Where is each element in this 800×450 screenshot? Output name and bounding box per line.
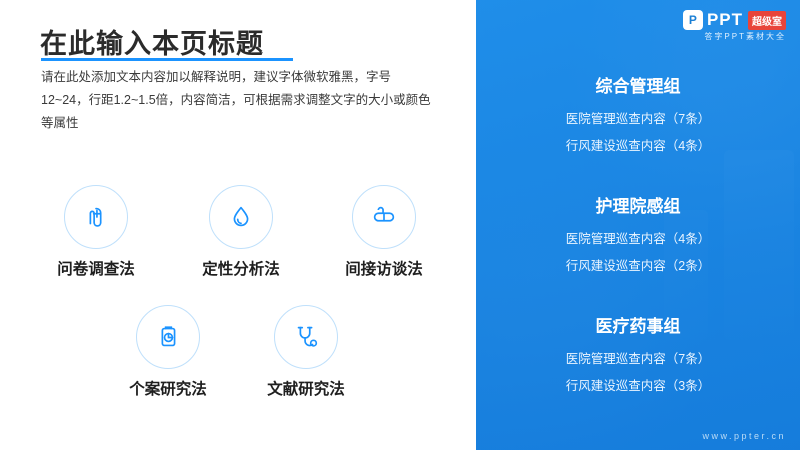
- group-block-3: 医疗药事组 医院管理巡查内容（7条） 行风建设巡查内容（3条）: [476, 312, 800, 402]
- logo-tag: 超级室: [748, 11, 786, 30]
- group-block-2: 护理院感组 医院管理巡查内容（4条） 行风建设巡查内容（2条）: [476, 192, 800, 282]
- logo-name: PPT: [707, 10, 743, 30]
- left-content-panel: 在此输入本页标题 请在此处添加文本内容加以解释说明，建议字体微软雅黑，字号12~…: [0, 0, 476, 450]
- group-line-3-2: 行风建设巡查内容（3条）: [476, 375, 800, 394]
- method-icon-circle-5: [274, 305, 338, 369]
- group-line-2-2: 行风建设巡查内容（2条）: [476, 255, 800, 274]
- brand-logo[interactable]: P PPT 超级室: [683, 10, 786, 30]
- first-aid-kit-icon: [81, 202, 111, 232]
- method-icon-circle-2: [209, 185, 273, 249]
- method-icon-circle-1: [64, 185, 128, 249]
- group-block-1: 综合管理组 医院管理巡查内容（7条） 行风建设巡查内容（4条）: [476, 72, 800, 162]
- title-underline: [41, 58, 293, 61]
- watermark: www.ppter.cn: [702, 431, 786, 441]
- page-subtitle: 请在此处添加文本内容加以解释说明，建议字体微软雅黑，字号12~24，行距1.2~…: [41, 66, 433, 135]
- method-item-1[interactable]: 问卷调查法: [42, 185, 150, 279]
- group-title-3: 医疗药事组: [476, 312, 800, 337]
- method-item-4[interactable]: 个案研究法: [114, 305, 222, 399]
- method-icon-circle-4: [136, 305, 200, 369]
- method-item-2[interactable]: 定性分析法: [187, 185, 295, 279]
- method-icon-circle-3: [352, 185, 416, 249]
- page-title: 在此输入本页标题: [40, 22, 264, 61]
- capsule-pill-icon: [369, 202, 399, 232]
- method-label-4: 个案研究法: [114, 377, 222, 399]
- right-blue-panel: P PPT 超级室 答字PPT素材大全 综合管理组 医院管理巡查内容（7条） 行…: [476, 0, 800, 450]
- group-title-1: 综合管理组: [476, 72, 800, 97]
- method-label-2: 定性分析法: [187, 257, 295, 279]
- group-line-1-1: 医院管理巡查内容（7条）: [476, 108, 800, 127]
- group-line-1-2: 行风建设巡查内容（4条）: [476, 135, 800, 154]
- logo-subtitle: 答字PPT素材大全: [704, 31, 786, 42]
- method-label-5: 文献研究法: [252, 377, 360, 399]
- stethoscope-icon: [291, 322, 321, 352]
- group-line-2-1: 医院管理巡查内容（4条）: [476, 228, 800, 247]
- water-drop-icon: [226, 202, 256, 232]
- group-title-2: 护理院感组: [476, 192, 800, 217]
- group-line-3-1: 医院管理巡查内容（7条）: [476, 348, 800, 367]
- logo-badge-icon: P: [683, 10, 703, 30]
- clipboard-chart-icon: [153, 322, 183, 352]
- method-item-5[interactable]: 文献研究法: [252, 305, 360, 399]
- slide: 在此输入本页标题 请在此处添加文本内容加以解释说明，建议字体微软雅黑，字号12~…: [0, 0, 800, 450]
- method-label-1: 问卷调查法: [42, 257, 150, 279]
- method-label-3: 间接访谈法: [330, 257, 438, 279]
- method-item-3[interactable]: 间接访谈法: [330, 185, 438, 279]
